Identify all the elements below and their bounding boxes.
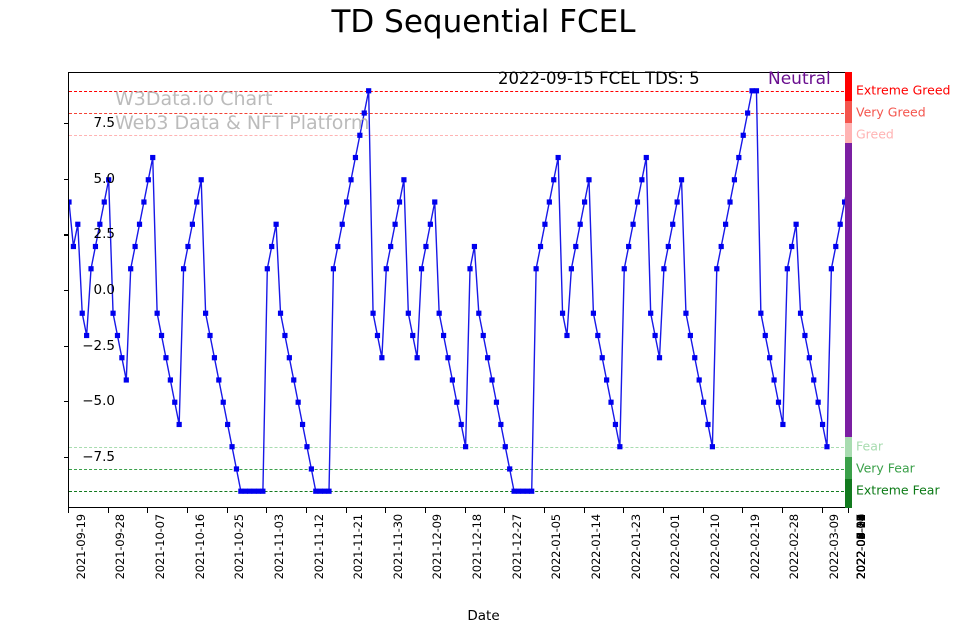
page-title: TD Sequential FCEL	[0, 4, 967, 40]
x-tick-mark	[465, 508, 466, 513]
data-point-marker	[595, 333, 600, 338]
data-point-marker	[203, 311, 208, 316]
data-point-marker	[648, 311, 653, 316]
data-point-marker	[701, 400, 706, 405]
data-point-marker	[833, 244, 838, 249]
data-point-marker	[463, 444, 468, 449]
data-point-marker	[335, 244, 340, 249]
x-tick-label: 2021-11-12	[312, 514, 326, 579]
data-point-marker	[437, 311, 442, 316]
x-tick-mark	[782, 508, 783, 513]
data-point-marker	[807, 355, 812, 360]
data-point-marker	[146, 177, 151, 182]
data-point-marker	[754, 88, 759, 93]
data-point-marker	[366, 88, 371, 93]
data-point-marker	[384, 266, 389, 271]
data-point-marker	[802, 333, 807, 338]
data-point-marker	[635, 199, 640, 204]
data-point-marker	[666, 244, 671, 249]
data-point-marker	[212, 355, 217, 360]
data-point-marker	[820, 422, 825, 427]
x-tick-mark	[108, 508, 109, 513]
data-point-marker	[758, 311, 763, 316]
data-point-marker	[221, 400, 226, 405]
data-point-marker	[291, 377, 296, 382]
data-point-marker	[489, 377, 494, 382]
x-tick-mark	[346, 508, 347, 513]
data-point-marker	[379, 355, 384, 360]
data-point-marker	[591, 311, 596, 316]
x-tick-mark	[147, 508, 148, 513]
x-tick-label: 2022-09-14	[854, 514, 868, 579]
data-point-marker	[811, 377, 816, 382]
data-point-marker	[296, 400, 301, 405]
data-point-marker	[274, 222, 279, 227]
data-point-marker	[710, 444, 715, 449]
data-point-marker	[401, 177, 406, 182]
x-tick-mark	[504, 508, 505, 513]
data-point-marker	[582, 199, 587, 204]
data-point-marker	[569, 266, 574, 271]
watermark-line-1: W3Data.io Chart	[115, 88, 272, 110]
data-point-marker	[653, 333, 658, 338]
data-point-marker	[767, 355, 772, 360]
data-point-marker	[199, 177, 204, 182]
data-point-marker	[265, 266, 270, 271]
data-point-marker	[789, 244, 794, 249]
x-tick-mark	[623, 508, 624, 513]
current-zone-annotation: Neutral	[768, 69, 831, 89]
y-tick-label: 5.0	[94, 171, 115, 187]
data-point-marker	[75, 222, 80, 227]
x-tick-mark	[544, 508, 545, 513]
data-point-marker	[150, 155, 155, 160]
zone-label-very-fear: Very Fear	[856, 460, 915, 475]
data-point-marker	[741, 133, 746, 138]
data-point-marker	[798, 311, 803, 316]
x-tick-label: 2021-11-30	[391, 514, 405, 579]
x-tick-mark	[584, 508, 585, 513]
colorbar-segment	[845, 123, 852, 143]
data-point-marker	[692, 355, 697, 360]
data-point-marker	[661, 266, 666, 271]
x-tick-label: 2021-10-25	[232, 514, 246, 579]
data-point-marker	[287, 355, 292, 360]
data-point-marker	[697, 377, 702, 382]
data-point-marker	[600, 355, 605, 360]
data-point-marker	[406, 311, 411, 316]
data-point-marker	[494, 400, 499, 405]
data-point-marker	[723, 222, 728, 227]
x-tick-label: 2022-02-28	[787, 514, 801, 579]
data-point-marker	[657, 355, 662, 360]
data-point-marker	[128, 266, 133, 271]
current-value-annotation: 2022-09-15 FCEL TDS: 5	[498, 69, 700, 88]
y-tick-mark	[64, 123, 69, 124]
data-point-marker	[459, 422, 464, 427]
x-tick-label: 2021-11-03	[272, 514, 286, 579]
y-tick-mark	[64, 179, 69, 180]
data-point-marker	[498, 422, 503, 427]
colorbar-segment	[845, 437, 852, 457]
data-point-marker	[115, 333, 120, 338]
x-tick-mark	[663, 508, 664, 513]
data-point-marker	[794, 222, 799, 227]
x-tick-label: 2021-09-28	[113, 514, 127, 579]
data-point-marker	[326, 489, 331, 494]
zone-label-very-greed: Very Greed	[856, 105, 926, 120]
data-point-marker	[194, 199, 199, 204]
data-point-marker	[564, 333, 569, 338]
data-point-marker	[547, 199, 552, 204]
x-tick-label: 2022-03-09	[827, 514, 841, 579]
zone-label-fear: Fear	[856, 438, 883, 453]
data-point-marker	[639, 177, 644, 182]
x-tick-label: 2022-01-05	[549, 514, 563, 579]
data-point-marker	[397, 199, 402, 204]
watermark-line-2: Web3 Data & NFT Platform	[115, 112, 369, 134]
data-point-marker	[507, 466, 512, 471]
x-tick-label: 2021-10-16	[193, 514, 207, 579]
data-point-marker	[207, 333, 212, 338]
data-point-marker	[604, 377, 609, 382]
data-point-marker	[375, 333, 380, 338]
colorbar-segment	[845, 72, 852, 101]
x-tick-label: 2022-01-14	[589, 514, 603, 579]
x-tick-label: 2021-11-21	[351, 514, 365, 579]
data-point-marker	[551, 177, 556, 182]
data-point-marker	[177, 422, 182, 427]
data-point-marker	[675, 199, 680, 204]
x-tick-mark	[385, 508, 386, 513]
data-point-marker	[88, 266, 93, 271]
data-point-marker	[181, 266, 186, 271]
data-point-marker	[630, 222, 635, 227]
data-point-marker	[415, 355, 420, 360]
x-tick-label: 2022-01-23	[629, 514, 643, 579]
data-point-marker	[476, 311, 481, 316]
colorbar-segment	[845, 101, 852, 123]
x-tick-mark	[306, 508, 307, 513]
data-point-marker	[229, 444, 234, 449]
data-point-marker	[613, 422, 618, 427]
x-tick-label: 2021-10-07	[153, 514, 167, 579]
colorbar-segment	[845, 479, 852, 508]
y-tick-mark	[64, 234, 69, 235]
data-point-marker	[688, 333, 693, 338]
data-point-marker	[441, 333, 446, 338]
data-point-marker	[586, 177, 591, 182]
y-tick-label: 2.5	[94, 226, 115, 242]
data-point-marker	[617, 444, 622, 449]
x-axis-label: Date	[0, 608, 967, 624]
plot-area	[68, 72, 848, 508]
data-point-marker	[331, 266, 336, 271]
data-point-marker	[776, 400, 781, 405]
data-point-marker	[423, 244, 428, 249]
data-point-marker	[80, 311, 85, 316]
data-point-marker	[225, 422, 230, 427]
x-tick-mark	[68, 508, 69, 513]
data-point-marker	[670, 222, 675, 227]
chart-root: TD Sequential FCEL FCEL TDS 7.55.02.50.0…	[0, 0, 967, 633]
data-point-marker	[467, 266, 472, 271]
x-tick-label: 2021-12-09	[430, 514, 444, 579]
data-point-marker	[780, 422, 785, 427]
data-point-marker	[190, 222, 195, 227]
x-tick-mark	[703, 508, 704, 513]
x-tick-label: 2022-02-19	[748, 514, 762, 579]
data-point-marker	[234, 466, 239, 471]
data-point-marker	[137, 222, 142, 227]
data-point-marker	[785, 266, 790, 271]
x-tick-label: 2022-02-10	[708, 514, 722, 579]
data-point-marker	[445, 355, 450, 360]
x-tick-mark	[425, 508, 426, 513]
y-tick-mark	[64, 457, 69, 458]
data-point-marker	[172, 400, 177, 405]
data-point-marker	[538, 244, 543, 249]
data-point-marker	[185, 244, 190, 249]
data-point-marker	[155, 311, 160, 316]
data-point-marker	[578, 222, 583, 227]
zone-label-greed: Greed	[856, 127, 894, 142]
data-point-marker	[163, 355, 168, 360]
plot-inner	[69, 73, 847, 507]
data-point-marker	[410, 333, 415, 338]
data-point-marker	[124, 377, 129, 382]
data-point-marker	[71, 244, 76, 249]
data-point-marker	[344, 199, 349, 204]
x-tick-mark	[822, 508, 823, 513]
y-tick-mark	[64, 346, 69, 347]
data-point-marker	[679, 177, 684, 182]
data-point-marker	[727, 199, 732, 204]
data-point-marker	[393, 222, 398, 227]
data-point-marker	[69, 199, 72, 204]
y-tick-label: 0.0	[94, 282, 115, 298]
data-point-marker	[93, 244, 98, 249]
data-point-marker	[481, 333, 486, 338]
x-tick-mark	[187, 508, 188, 513]
data-point-marker	[763, 333, 768, 338]
data-point-marker	[838, 222, 843, 227]
data-point-marker	[622, 266, 627, 271]
y-tick-label: 7.5	[94, 115, 115, 131]
data-point-marker	[432, 199, 437, 204]
data-point-marker	[269, 244, 274, 249]
sentiment-colorbar	[845, 72, 852, 508]
data-point-marker	[705, 422, 710, 427]
y-tick-mark	[64, 290, 69, 291]
data-point-marker	[472, 244, 477, 249]
data-point-marker	[450, 377, 455, 382]
data-point-marker	[304, 444, 309, 449]
y-tick-label: −5.0	[82, 393, 115, 409]
y-tick-mark	[64, 401, 69, 402]
y-tick-label: −7.5	[82, 449, 115, 465]
data-point-marker	[626, 244, 631, 249]
data-point-marker	[353, 155, 358, 160]
data-point-marker	[278, 311, 283, 316]
zone-label-extreme-greed: Extreme Greed	[856, 82, 950, 97]
data-point-marker	[608, 400, 613, 405]
data-point-marker	[159, 333, 164, 338]
data-point-marker	[340, 222, 345, 227]
x-tick-mark	[266, 508, 267, 513]
x-tick-label: 2021-12-27	[510, 514, 524, 579]
data-point-marker	[719, 244, 724, 249]
data-point-marker	[824, 444, 829, 449]
data-point-marker	[573, 244, 578, 249]
data-point-marker	[534, 266, 539, 271]
data-point-marker	[102, 199, 107, 204]
data-point-marker	[736, 155, 741, 160]
x-tick-label: 2022-02-01	[668, 514, 682, 579]
x-tick-label: 2021-09-19	[74, 514, 88, 579]
colorbar-segment	[845, 143, 852, 437]
data-point-marker	[816, 400, 821, 405]
data-point-marker	[556, 155, 561, 160]
data-point-marker	[168, 377, 173, 382]
tds-polyline	[69, 91, 847, 491]
data-point-marker	[133, 244, 138, 249]
data-point-marker	[714, 266, 719, 271]
data-point-marker	[309, 466, 314, 471]
data-point-marker	[683, 311, 688, 316]
x-tick-mark	[227, 508, 228, 513]
data-point-marker	[419, 266, 424, 271]
data-point-marker	[110, 311, 115, 316]
data-point-marker	[771, 377, 776, 382]
tds-series-line	[69, 73, 847, 507]
data-point-marker	[829, 266, 834, 271]
data-point-marker	[282, 333, 287, 338]
data-point-marker	[348, 177, 353, 182]
data-point-marker	[388, 244, 393, 249]
data-point-marker	[300, 422, 305, 427]
data-point-marker	[454, 400, 459, 405]
x-tick-mark	[742, 508, 743, 513]
colorbar-segment	[845, 457, 852, 479]
x-tick-mark	[848, 508, 849, 513]
data-point-marker	[644, 155, 649, 160]
data-point-marker	[370, 311, 375, 316]
data-point-marker	[560, 311, 565, 316]
data-point-marker	[119, 355, 124, 360]
data-point-marker	[745, 110, 750, 115]
data-point-marker	[542, 222, 547, 227]
data-point-marker	[485, 355, 490, 360]
data-point-marker	[260, 489, 265, 494]
zone-label-extreme-fear: Extreme Fear	[856, 483, 940, 498]
data-point-marker	[503, 444, 508, 449]
data-point-marker	[428, 222, 433, 227]
data-point-marker	[732, 177, 737, 182]
y-tick-label: −2.5	[82, 338, 115, 354]
data-point-marker	[141, 199, 146, 204]
data-point-marker	[216, 377, 221, 382]
x-tick-label: 2021-12-18	[470, 514, 484, 579]
data-point-marker	[529, 489, 534, 494]
